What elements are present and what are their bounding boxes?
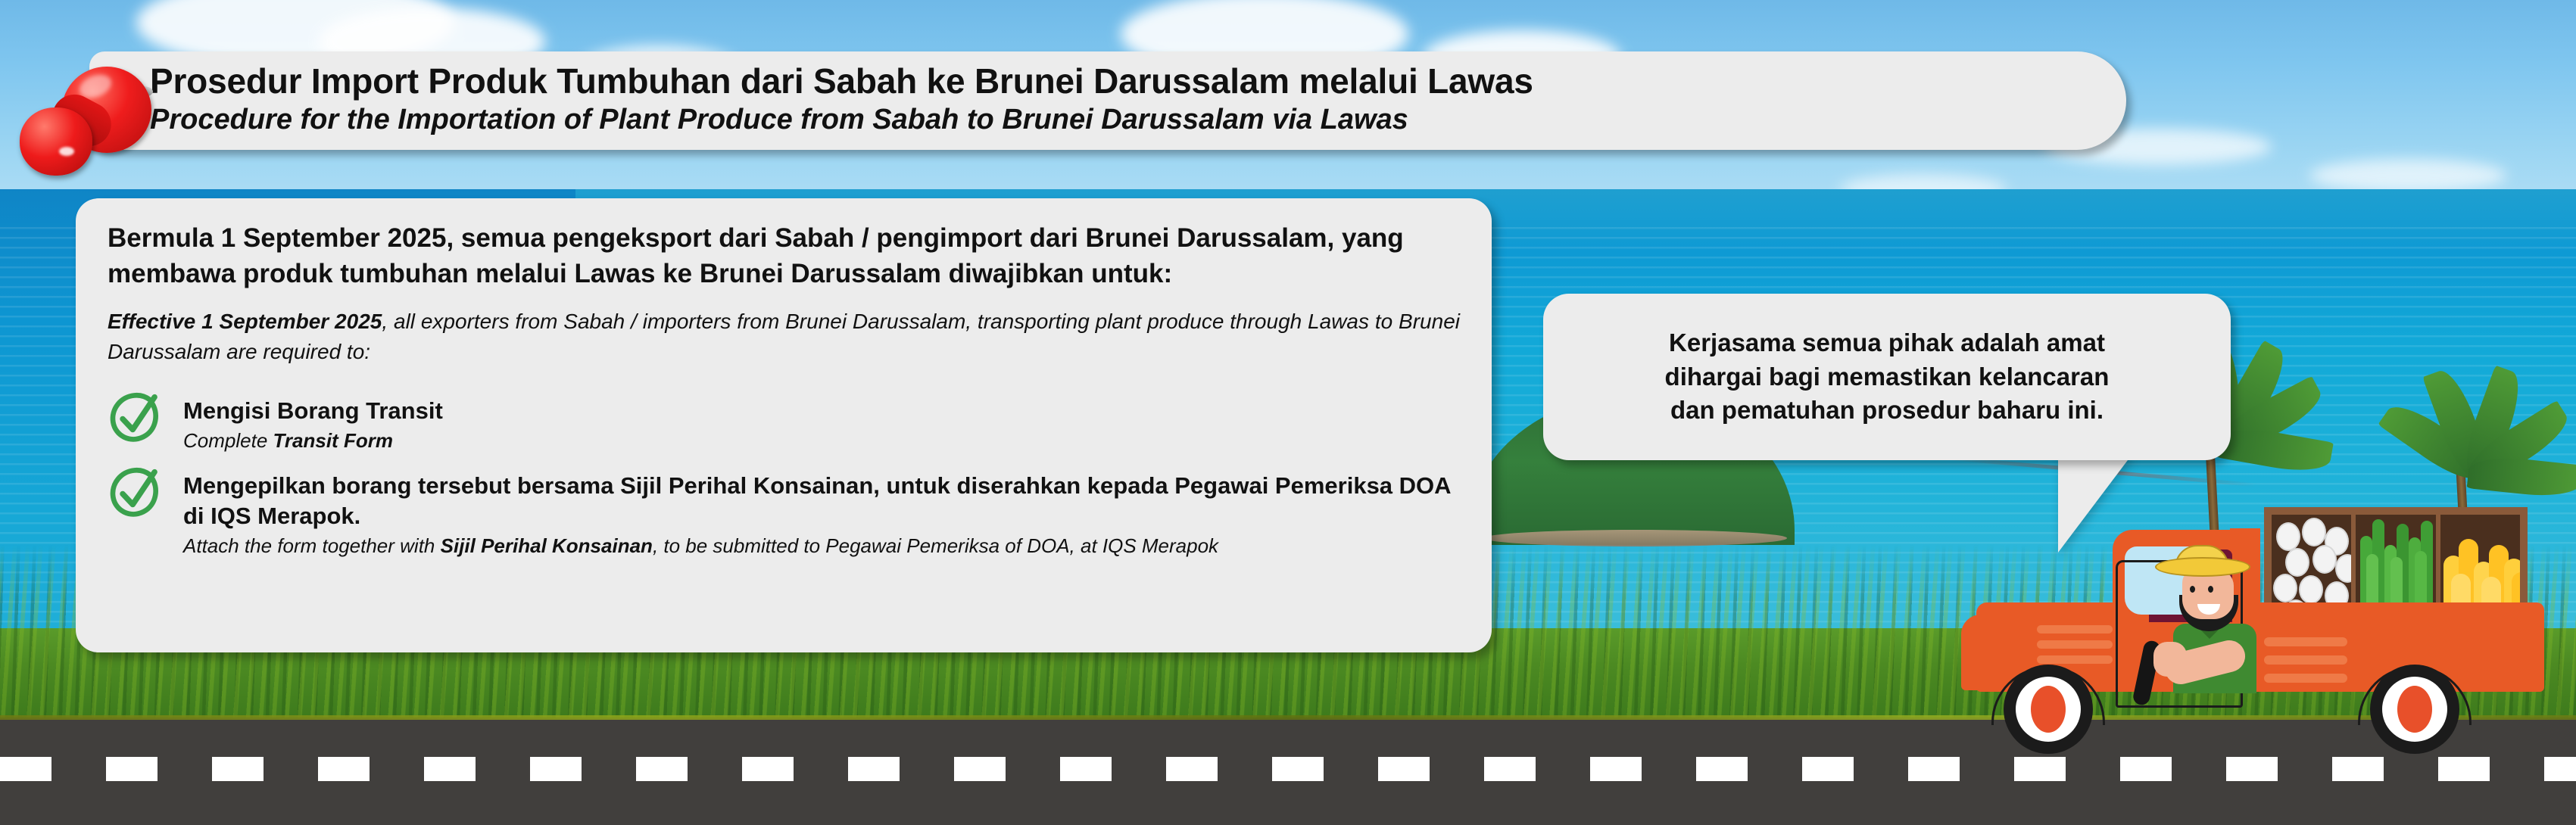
truck-wheel [2004,665,2093,754]
lead-paragraph-malay: Bermula 1 September 2025, semua pengeksp… [108,221,1460,291]
page-title-malay: Prosedur Import Produk Tumbuhan dari Sab… [150,61,2126,101]
lead-malay-effective-date: Bermula 1 September 2025, [108,223,454,253]
road-center-dashes [0,757,2576,781]
item-text-english: Attach the form together with Sijil Peri… [183,533,1460,559]
green-circle-check-icon [108,465,164,521]
item-english-prefix: Complete [183,429,273,452]
cloud-icon [2309,159,2506,192]
list-item-body: Mengisi Borang Transit Complete Transit … [183,393,1460,454]
speech-bubble-tail [2058,454,2132,553]
bubble-line-1: Kerjasama semua pihak adalah amat [1669,328,2105,356]
title-banner: Prosedur Import Produk Tumbuhan dari Sab… [89,51,2126,150]
page-title-english: Procedure for the Importation of Plant P… [150,103,2126,137]
main-info-panel: Bermula 1 September 2025, semua pengeksp… [76,198,1492,652]
straw-hat-icon [2155,557,2250,577]
speech-bubble-text: Kerjasama semua pihak adalah amat diharg… [1665,326,2110,428]
item-english-bold: Transit Form [273,429,393,452]
item-text-english: Complete Transit Form [183,428,1460,454]
requirements-checklist: Mengisi Borang Transit Complete Transit … [108,393,1460,560]
bubble-line-2: dihargai bagi memastikan kelancaran [1665,363,2110,391]
red-push-pin-icon [18,59,162,180]
item-english-prefix: Attach the form together with [183,534,441,557]
list-item: Mengepilkan borang tersebut bersama Siji… [108,468,1460,559]
item-text-malay: Mengepilkan borang tersebut bersama Siji… [183,471,1460,532]
lead-english-effective-date: Effective 1 September 2025 [108,310,382,333]
lead-paragraph-english: Effective 1 September 2025, all exporter… [108,307,1460,367]
bubble-line-3: dan pematuhan prosedur baharu ini. [1670,396,2104,424]
item-english-tail: , to be submitted to Pegawai Pemeriksa o… [653,534,1218,557]
pickup-truck-illustration [1961,484,2574,757]
list-item: Mengisi Borang Transit Complete Transit … [108,393,1460,454]
list-item-body: Mengepilkan borang tersebut bersama Siji… [183,468,1460,559]
truck-wheel [2370,665,2459,754]
poster-canvas: Prosedur Import Produk Tumbuhan dari Sab… [0,0,2576,825]
item-text-malay: Mengisi Borang Transit [183,396,1460,426]
green-circle-check-icon [108,390,164,446]
speech-bubble: Kerjasama semua pihak adalah amat diharg… [1543,294,2231,460]
farmer-driver [2150,549,2287,686]
item-english-bold: Sijil Perihal Konsainan [441,534,653,557]
